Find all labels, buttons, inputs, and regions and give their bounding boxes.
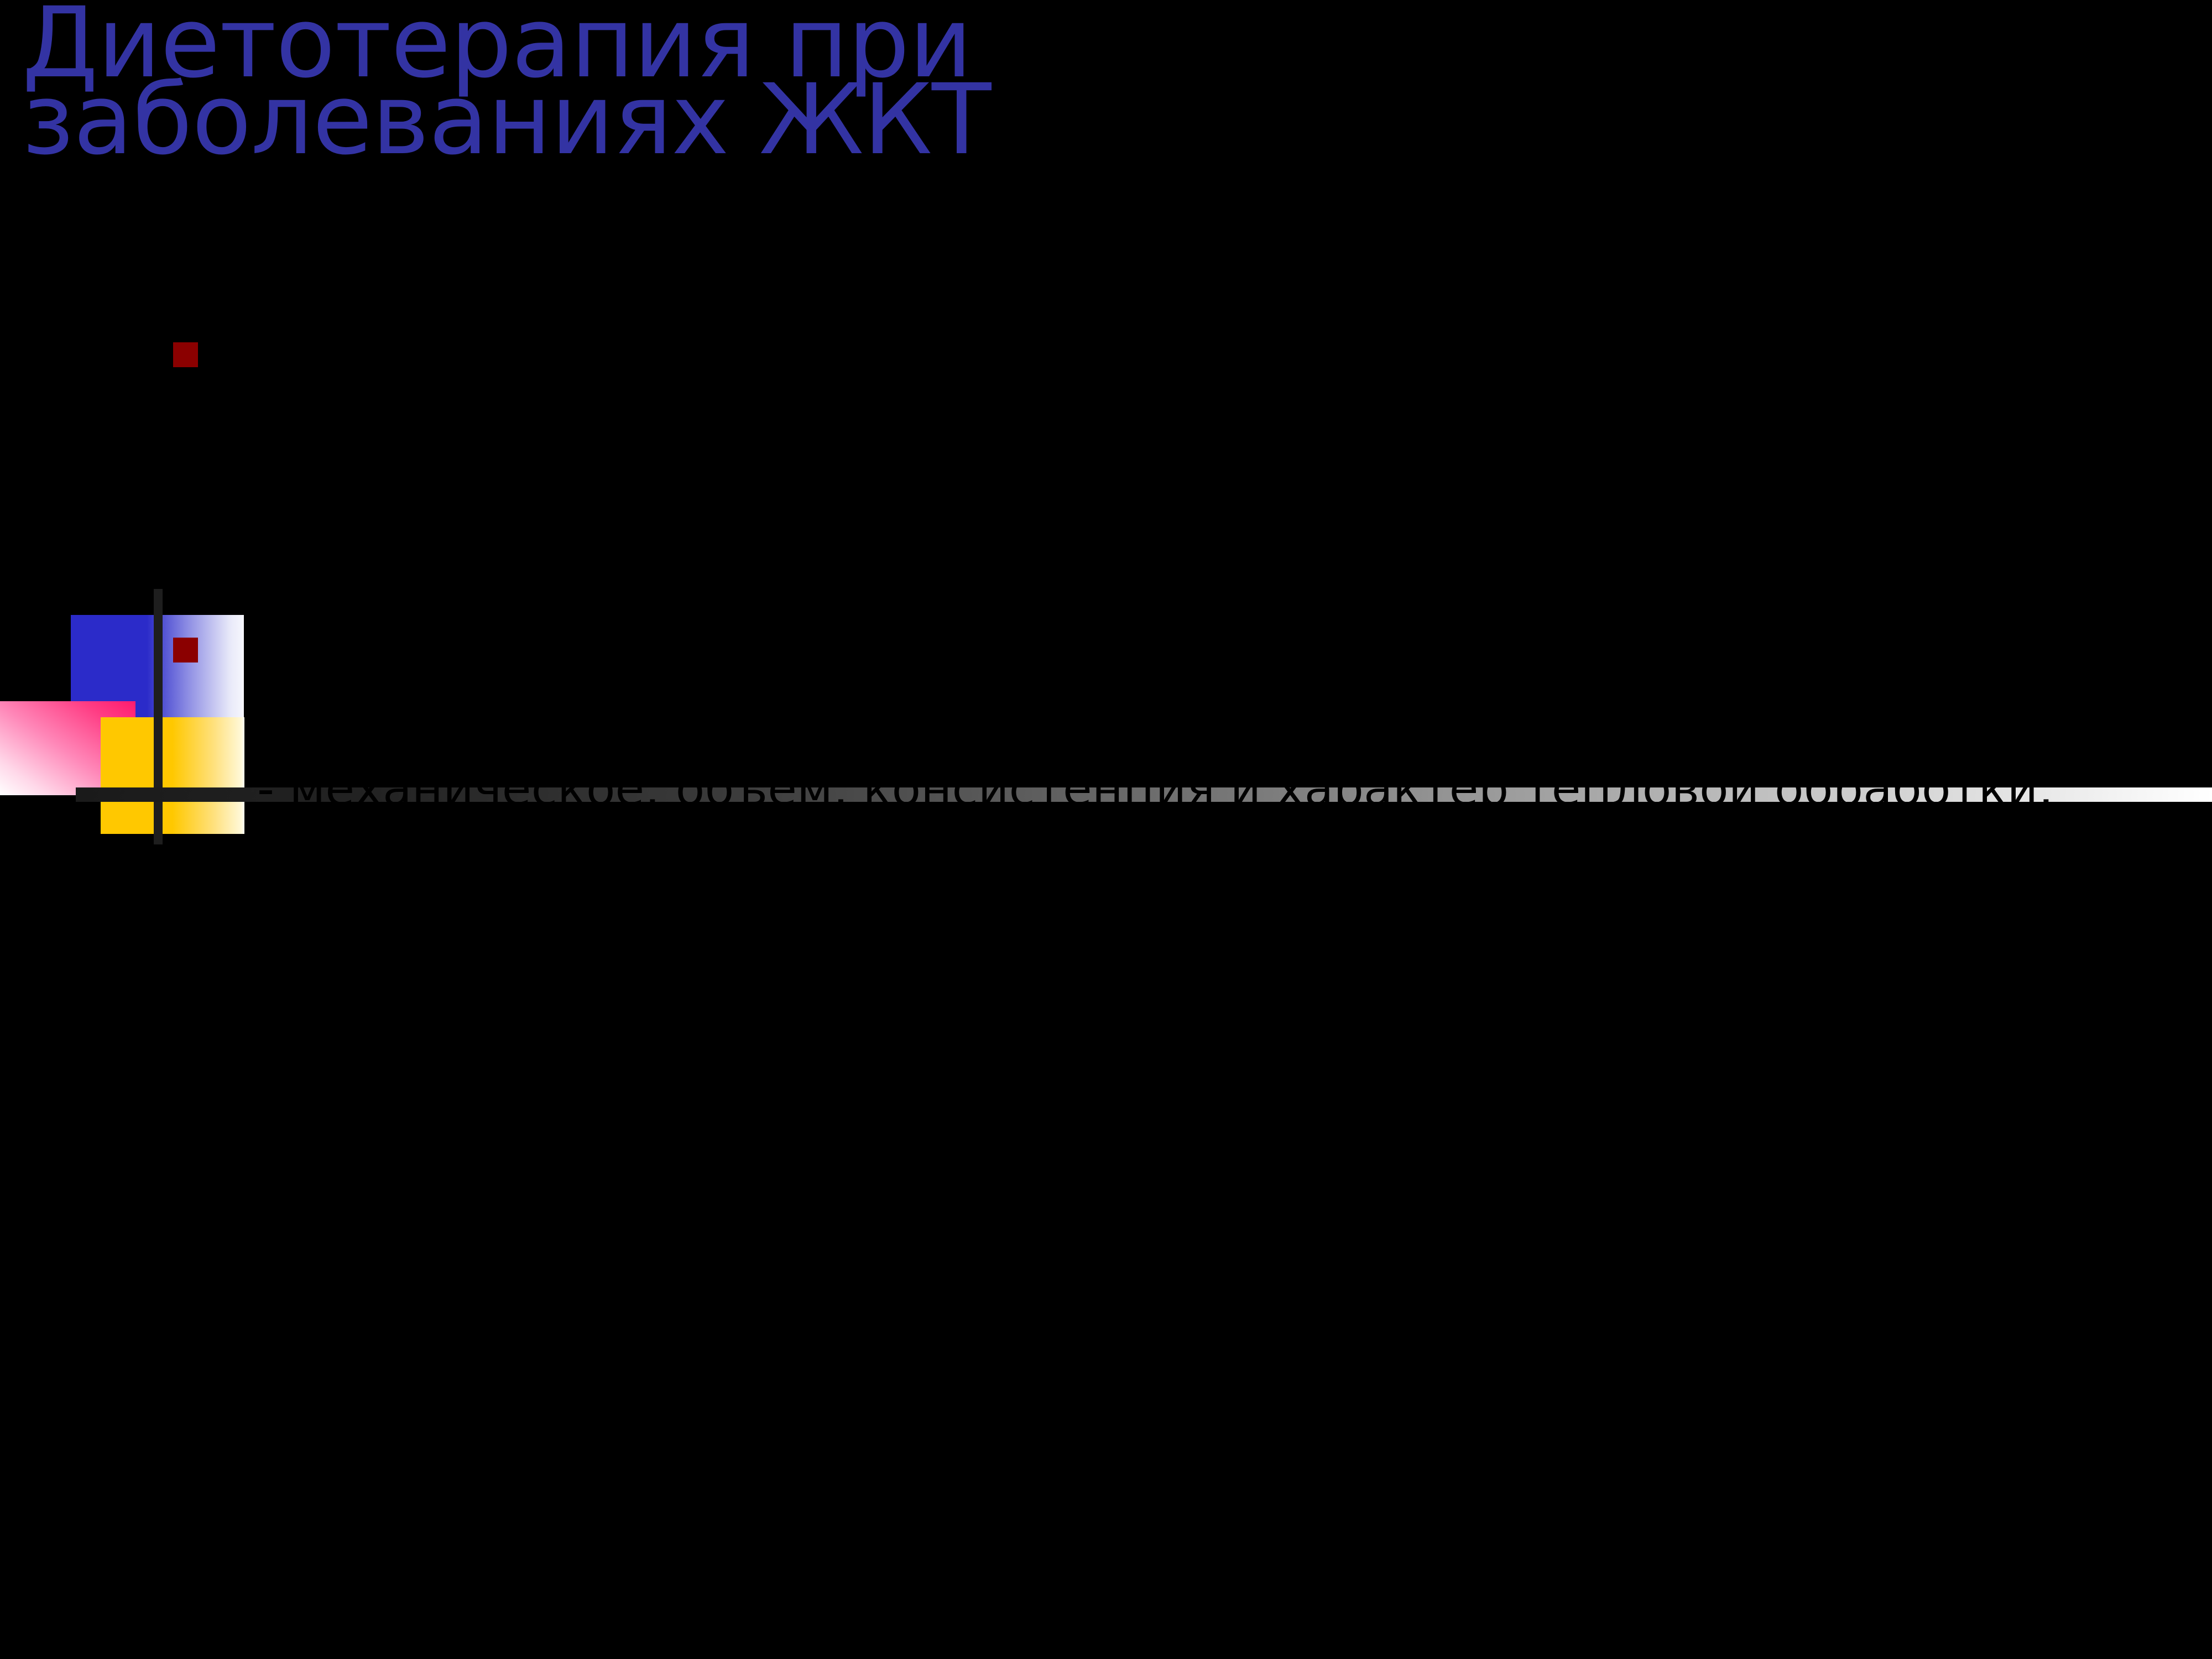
sub-item-nutrient-ratio: - изменения соотношения между питательны… xyxy=(166,464,2212,526)
sub-item-chemical-effect: - химическое: определяется концентрацией… xyxy=(166,833,2212,957)
pink-square-shape xyxy=(0,701,135,795)
sub-item-text: - химическое: определяется концентрацией… xyxy=(257,833,2212,957)
sub-item-mechanical-effect: - механическое: объем, консистенция и ха… xyxy=(166,759,2212,821)
page-title: Диетотерапия при заболеваниях ЖКТ xyxy=(22,4,1526,158)
vertical-bar-shape xyxy=(154,589,163,844)
bullet-text: Местное действие: xyxy=(257,611,2212,672)
sub-item-qualitative-composition: - изменение качественного состава (набор… xyxy=(166,389,2212,451)
sub-item-text: - изменения соотношения между питательны… xyxy=(257,464,2212,526)
sub-item-food-temperature: - температура пищи: менее 15 и более 60 … xyxy=(166,684,2212,745)
bullet-square-icon xyxy=(173,638,198,662)
slide-canvas: Диетотерапия при заболеваниях ЖКТ Общее … xyxy=(0,0,2212,1659)
sub-item-text: - характер кулинарной обработки; xyxy=(257,536,2212,598)
bullet-item-general-effect: Общее терапевтическое действие диет: xyxy=(166,315,2212,377)
bullet-item-local-effect: Местное действие: xyxy=(166,611,2212,672)
sub-item-text: - изменение качественного состава (набор… xyxy=(257,389,2212,451)
bullet-square-icon xyxy=(173,342,198,367)
sub-item-text: - температура пищи: менее 15 и более 60 … xyxy=(257,684,2212,745)
sub-item-text: - механическое: объем, консистенция и ха… xyxy=(257,759,2212,821)
sub-item-culinary-processing: - характер кулинарной обработки; xyxy=(166,536,2212,598)
bullet-text: Общее терапевтическое действие диет: xyxy=(257,315,2212,377)
slide-body: Общее терапевтическое действие диет: - и… xyxy=(166,315,2212,956)
